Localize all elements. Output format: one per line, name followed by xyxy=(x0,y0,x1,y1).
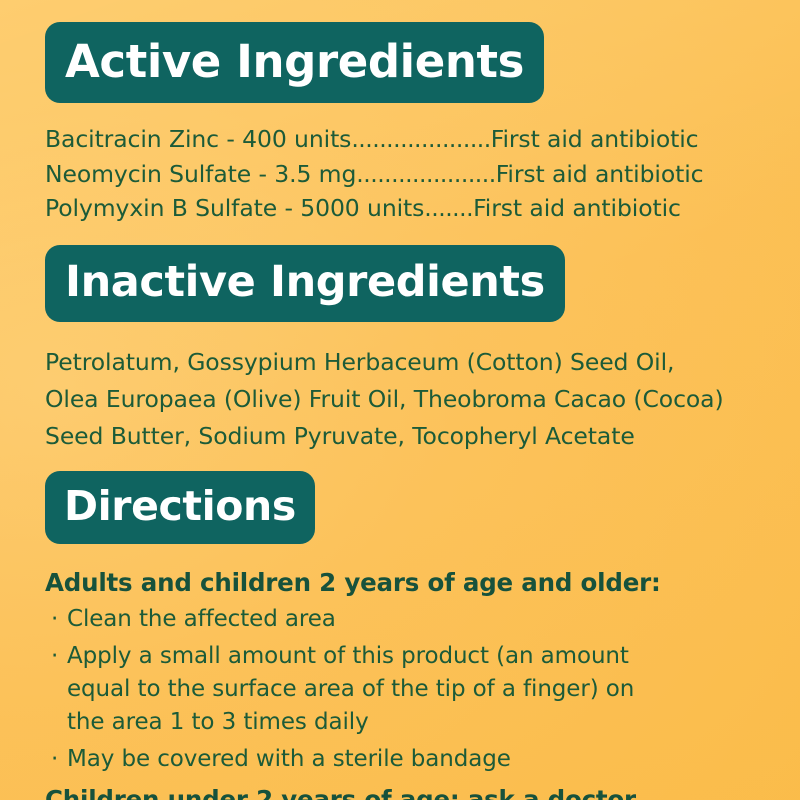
directions-bullet-line: the area 1 to 3 times daily xyxy=(67,706,755,739)
drug-facts-panel: Active Ingredients Bacitracin Zinc - 400… xyxy=(0,0,800,800)
directions-bullet-item: · Apply a small amount of this product (… xyxy=(45,640,755,739)
directions-bullet-line: Clean the affected area xyxy=(67,603,755,636)
bullet-icon: · xyxy=(51,743,58,776)
inactive-line: Petrolatum, Gossypium Herbaceum (Cotton)… xyxy=(45,344,755,381)
inactive-ingredients-text: Petrolatum, Gossypium Herbaceum (Cotton)… xyxy=(45,344,755,455)
active-ingredient-purpose: First aid antibiotic xyxy=(496,160,704,188)
active-ingredient-row: Neomycin Sulfate - 3.5 mg...............… xyxy=(45,157,755,192)
leader-dots: .................... xyxy=(351,125,490,153)
inactive-ingredients-heading: Inactive Ingredients xyxy=(45,245,565,322)
inactive-line: Seed Butter, Sodium Pyruvate, Tocopheryl… xyxy=(45,418,755,455)
leader-dots: ....... xyxy=(424,194,473,222)
active-ingredient-purpose: First aid antibiotic xyxy=(491,125,699,153)
bullet-icon: · xyxy=(51,603,58,636)
active-ingredients-list: Bacitracin Zinc - 400 units.............… xyxy=(45,122,755,226)
active-ingredient-row: Bacitracin Zinc - 400 units.............… xyxy=(45,122,755,157)
active-ingredient-purpose: First aid antibiotic xyxy=(473,194,681,222)
directions-closing-note: Children under 2 years of age: ask a doc… xyxy=(45,785,755,800)
inactive-line: Olea Europaea (Olive) Fruit Oil, Theobro… xyxy=(45,381,755,418)
directions-bullet-item: · May be covered with a sterile bandage xyxy=(45,743,755,776)
active-ingredient-row: Polymyxin B Sulfate - 5000 units.......F… xyxy=(45,191,755,226)
active-ingredient-name: Bacitracin Zinc - 400 units xyxy=(45,125,351,153)
directions-bullet-list: · Clean the affected area · Apply a smal… xyxy=(45,603,755,777)
directions-bullet-item: · Clean the affected area xyxy=(45,603,755,636)
directions-subheading: Adults and children 2 years of age and o… xyxy=(45,568,755,597)
leader-dots: .................... xyxy=(356,160,495,188)
active-ingredient-name: Polymyxin B Sulfate - 5000 units xyxy=(45,194,424,222)
directions-bullet-line: equal to the surface area of the tip of … xyxy=(67,673,755,706)
directions-heading: Directions xyxy=(45,471,315,544)
active-ingredients-heading: Active Ingredients xyxy=(45,22,544,103)
directions-bullet-line: Apply a small amount of this product (an… xyxy=(67,640,755,673)
bullet-icon: · xyxy=(51,640,58,673)
active-ingredient-name: Neomycin Sulfate - 3.5 mg xyxy=(45,160,356,188)
directions-bullet-line: May be covered with a sterile bandage xyxy=(67,743,755,776)
content-container: Active Ingredients Bacitracin Zinc - 400… xyxy=(0,0,800,800)
